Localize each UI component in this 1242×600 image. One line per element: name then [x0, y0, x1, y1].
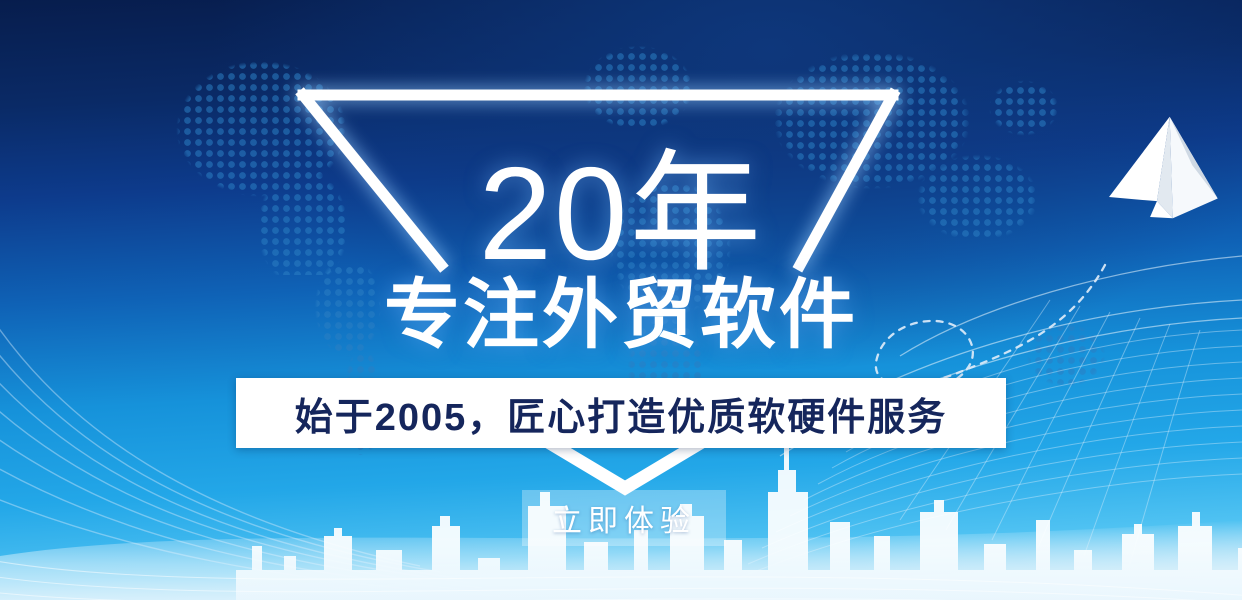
cta-button[interactable]: 立即体验	[522, 490, 726, 546]
headline-main: 专注外贸软件	[0, 276, 1242, 355]
subtitle-bar: 始于2005，匠心打造优质软硬件服务	[236, 378, 1006, 448]
promo-banner: 20年 专注外贸软件 始于2005，匠心打造优质软硬件服务 立即体验	[0, 0, 1242, 600]
headline-years: 20年	[0, 148, 1242, 280]
cta-button-label: 立即体验	[552, 496, 696, 540]
subtitle-text: 始于2005，匠心打造优质软硬件服务	[295, 386, 948, 441]
